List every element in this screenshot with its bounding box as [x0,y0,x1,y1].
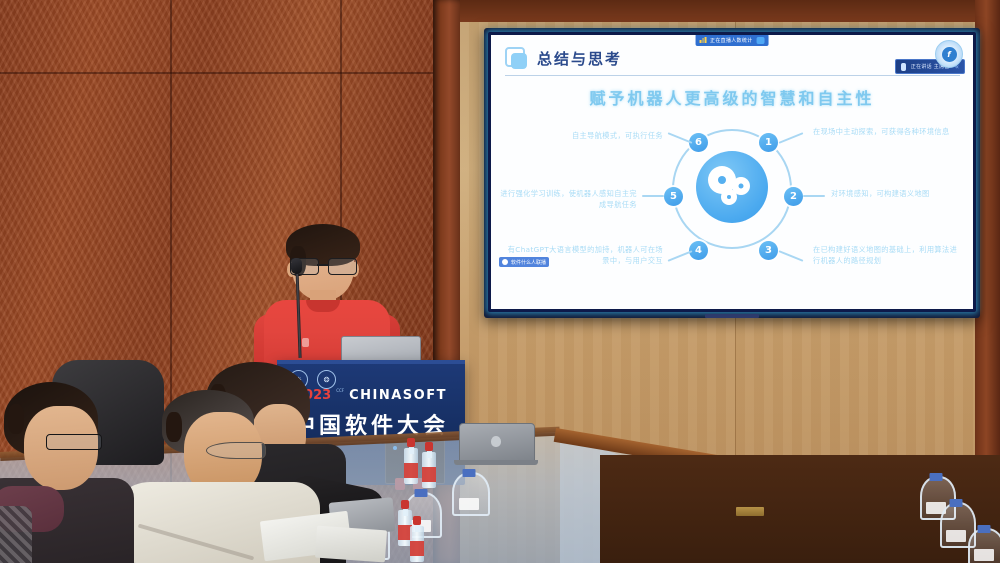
water-bottle-4 [410,516,424,562]
slide-header-label: 总结与思考 [537,48,622,69]
spoke-2 [803,195,825,197]
wall-display: 总结与思考 赋予机器人更高级的智慧和自主性 1 2 3 4 [484,28,980,318]
gears-icon [710,167,754,207]
diagram-text-1: 在现场中主动探索，可获得各种环境信息 [813,127,958,138]
person-a-pattern-sleeve [0,506,32,563]
cycle-diagram: 1 2 3 4 5 6 在现场中主动探索，可获得各种环境信息 对环境感知，可构建 [491,115,973,285]
record-dot-icon [502,259,508,265]
live-viewer-badge-label: 正在直播人数统计 [710,37,752,44]
diagram-text-5: 进行强化学习训练，使机器人感知自主完成导航任务 [499,189,637,211]
broadcast-watermark: 软件什么人联播 [499,257,549,267]
spoke-3 [779,250,804,262]
diagram-node-1: 1 [759,133,778,152]
spoke-4 [668,250,693,262]
table-plaque [736,507,764,516]
macbook-laptop[interactable] [459,423,533,460]
audience-person-a [0,382,126,563]
slide-title: 赋予机器人更高级的智慧和自主性 [491,85,973,109]
diagram-text-6: 自主导航模式，可执行任务 [507,131,663,142]
display-brand-mark [705,314,759,318]
broadcast-logo-icon [756,37,764,44]
diagram-node-5: 5 [664,187,683,206]
diagram-node-2: 2 [784,187,803,206]
person-a-glasses [46,434,102,450]
watermark-label: 软件什么人联播 [511,259,546,266]
screenshot-root: 总结与思考 赋予机器人更高级的智慧和自主性 1 2 3 4 [0,0,1000,563]
podium-english-title: CHINASOFT [349,388,447,403]
presenter-shirt-logo [302,338,309,347]
organization-logo: f [935,40,963,68]
rounded-square-stack-icon [505,47,528,70]
podium-sup: CCF [336,388,344,393]
microphone-icon [901,63,906,71]
name-card-1 [452,472,486,512]
live-viewer-badge[interactable]: 正在直播人数统计 [696,35,769,46]
water-bottle-2 [422,442,436,488]
water-bottle-1 [404,438,418,484]
apple-logo-icon [491,436,501,447]
slide-header: 总结与思考 [505,47,622,70]
diagram-node-3: 3 [759,241,778,260]
diagram-hub [696,151,768,223]
display-bezel: 总结与思考 赋予机器人更高级的智慧和自主性 1 2 3 4 [488,32,976,312]
ceiling-band [460,0,1000,22]
microphone-head-icon [291,258,302,274]
person-b-glasses [206,442,266,459]
diagram-text-2: 对环境感知，可构建语义地图 [831,189,971,200]
signal-bars-icon [700,37,707,43]
spoke-5 [642,195,664,197]
presentation-slide: 总结与思考 赋予机器人更高级的智慧和自主性 1 2 3 4 [491,35,973,309]
document-papers-2 [315,526,387,563]
wall-seam-horizontal [0,72,455,74]
diagram-text-3: 在已构建好语义地图的基础上，利用算法进行机器人的路径规划 [813,245,963,267]
header-divider [505,75,960,76]
name-card-6 [968,528,1000,563]
spoke-1 [779,132,804,144]
organization-logo-mark: f [942,47,957,62]
